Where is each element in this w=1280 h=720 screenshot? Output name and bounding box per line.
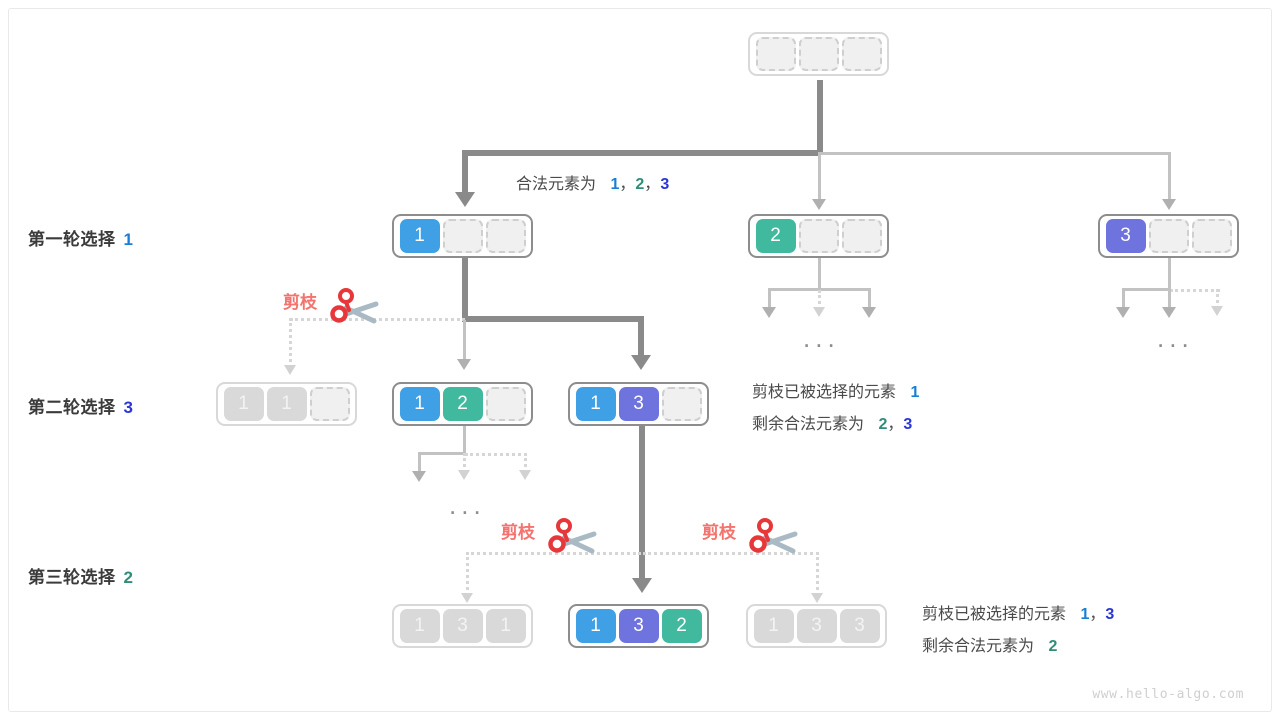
scissors-icon-2 (548, 518, 600, 562)
edge-r2b-stem (463, 426, 466, 454)
annotation-round2-line1-value-1: 1 (910, 384, 919, 401)
arrowhead-r2c-prune-left (461, 593, 473, 603)
row-label-round-3-text: 第三轮选择 (28, 568, 116, 587)
edge-r2c-stem (639, 426, 645, 586)
sep: ， (644, 176, 660, 193)
edge-r1b-stem (818, 258, 821, 290)
node-r3-c-pruned[interactable]: 1 3 3 (746, 604, 887, 648)
annotation-legal-elements-prefix: 合法元素为 (516, 176, 596, 193)
edge-root-stem (817, 80, 823, 153)
cell (756, 37, 796, 71)
edge-r2c-prune-left-drop (466, 552, 469, 596)
cell: 3 (840, 609, 880, 643)
edge-root-bus-left (462, 150, 820, 156)
edge-root-to-child-b (818, 152, 821, 202)
arrowhead-r1c-branch-3 (1211, 306, 1223, 316)
cell: 1 (267, 387, 307, 421)
edge-r2b-bus-right-dotted (465, 453, 527, 456)
row-label-round-2-text: 第二轮选择 (28, 398, 116, 417)
cell (1192, 219, 1232, 253)
cell (486, 387, 526, 421)
node-r3-a-pruned[interactable]: 1 3 1 (392, 604, 533, 648)
edge-r2b-bus-left (418, 452, 466, 455)
arrowhead-root-to-child-c (1162, 199, 1176, 210)
cell (799, 219, 839, 253)
annotation-legal-value-3: 3 (660, 176, 669, 193)
cell (486, 219, 526, 253)
sep: ， (619, 176, 635, 193)
arrowhead-root-to-child-b (812, 199, 826, 210)
arrowhead-r1b-branch-3 (862, 307, 876, 318)
cell: 3 (443, 609, 483, 643)
node-r2-b[interactable]: 1 2 (392, 382, 533, 426)
annotation-round3-line1: 剪枝已被选择的元素 1，3 (922, 600, 1114, 624)
row-label-round-1-text: 第一轮选择 (28, 230, 116, 249)
arrowhead-r1b-branch-1 (762, 307, 776, 318)
annotation-round2-line1: 剪枝已被选择的元素 1 (752, 378, 919, 402)
annotation-round2-line2-prefix: 剩余合法元素为 (752, 416, 864, 433)
cell: 2 (756, 219, 796, 253)
row-label-round-1: 第一轮选择1 (28, 225, 133, 250)
sep: ， (887, 416, 903, 433)
cell: 1 (400, 609, 440, 643)
cell (310, 387, 350, 421)
sep: ， (1089, 606, 1105, 623)
row-label-round-3-value: 2 (124, 568, 134, 587)
node-r1-b[interactable]: 2 (748, 214, 889, 258)
arrowhead-r2b-branch-1 (412, 471, 426, 482)
prune-label-2: 剪枝 (501, 518, 535, 543)
edge-r1a-to-r2b (463, 320, 466, 362)
annotation-legal-value-2: 2 (635, 176, 644, 193)
annotation-round3-line1-prefix: 剪枝已被选择的元素 (922, 606, 1066, 623)
edge-r1c-bus-left (1122, 288, 1171, 291)
node-r3-b[interactable]: 1 3 2 (568, 604, 709, 648)
arrowhead-r1b-branch-2 (813, 307, 825, 317)
cell: 3 (1106, 219, 1146, 253)
cell (1149, 219, 1189, 253)
ellipsis-under-r1c: ... (1157, 325, 1194, 351)
edge-root-bus-right (820, 152, 1170, 155)
arrowhead-r1c-branch-1 (1116, 307, 1130, 318)
cell (662, 387, 702, 421)
cell: 2 (662, 609, 702, 643)
edge-r1a-pruned-dotted-drop (289, 318, 292, 368)
arrowhead-r1c-branch-2 (1162, 307, 1176, 318)
row-label-round-3: 第三轮选择2 (28, 563, 133, 588)
cell: 1 (754, 609, 794, 643)
cell: 1 (576, 609, 616, 643)
edge-r1a-stem (462, 258, 468, 320)
cell (443, 219, 483, 253)
ellipsis-under-r2b: ... (449, 492, 486, 518)
annotation-round3-line2-value-1: 2 (1048, 638, 1057, 655)
cell: 1 (400, 219, 440, 253)
node-r1-a[interactable]: 1 (392, 214, 533, 258)
cell: 3 (619, 387, 659, 421)
cell: 1 (486, 609, 526, 643)
arrowhead-r2b-branch-2 (458, 470, 470, 480)
cell: 3 (619, 609, 659, 643)
cell: 1 (224, 387, 264, 421)
arrowhead-r2c-prune-right (811, 593, 823, 603)
edge-r1c-bus-right-dotted (1170, 289, 1220, 292)
row-label-round-1-value: 1 (124, 230, 134, 249)
arrowhead-r1a-to-r2b (457, 359, 471, 370)
edge-r1c-stem (1168, 258, 1171, 290)
arrowhead-r1a-pruned (284, 365, 296, 375)
cell: 3 (797, 609, 837, 643)
annotation-round2-line1-prefix: 剪枝已被选择的元素 (752, 384, 896, 401)
node-r1-c[interactable]: 3 (1098, 214, 1239, 258)
ellipsis-under-r1b: ... (803, 325, 840, 351)
edge-root-to-child-a (462, 150, 468, 195)
annotation-round2-line2: 剩余合法元素为 2，3 (752, 410, 912, 434)
edge-r1a-to-r2c (638, 316, 644, 358)
annotation-round3-line2: 剩余合法元素为 2 (922, 632, 1057, 656)
row-label-round-2: 第二轮选择3 (28, 393, 133, 418)
row-label-round-2-value: 3 (124, 398, 134, 417)
node-r2-a-pruned[interactable]: 1 1 (216, 382, 357, 426)
edge-r1a-bus (462, 316, 644, 322)
arrowhead-r1a-to-r2c (631, 355, 651, 370)
cell: 1 (400, 387, 440, 421)
edge-root-to-child-c (1168, 152, 1171, 202)
cell (799, 37, 839, 71)
prune-label-3: 剪枝 (702, 518, 736, 543)
cell: 2 (443, 387, 483, 421)
scissors-icon-1 (330, 288, 382, 332)
cell (842, 219, 882, 253)
cell (842, 37, 882, 71)
annotation-round3-line1-value-2: 3 (1105, 606, 1114, 623)
annotation-legal-elements: 合法元素为 1，2，3 (516, 170, 669, 194)
prune-label-1: 剪枝 (283, 288, 317, 313)
watermark: www.hello-algo.com (1092, 687, 1244, 702)
edge-r2c-prune-right-drop (816, 552, 819, 596)
annotation-round2-line2-value-2: 3 (903, 416, 912, 433)
arrowhead-r2c-to-r3b (632, 578, 652, 593)
node-root[interactable] (748, 32, 889, 76)
node-r2-c[interactable]: 1 3 (568, 382, 709, 426)
diagram-canvas: 第一轮选择1 第二轮选择3 第三轮选择2 ... (0, 0, 1280, 720)
scissors-icon-3 (749, 518, 801, 562)
annotation-round3-line2-prefix: 剩余合法元素为 (922, 638, 1034, 655)
cell: 1 (576, 387, 616, 421)
arrowhead-r2b-branch-3 (519, 470, 531, 480)
arrowhead-root-to-child-a (455, 192, 475, 207)
